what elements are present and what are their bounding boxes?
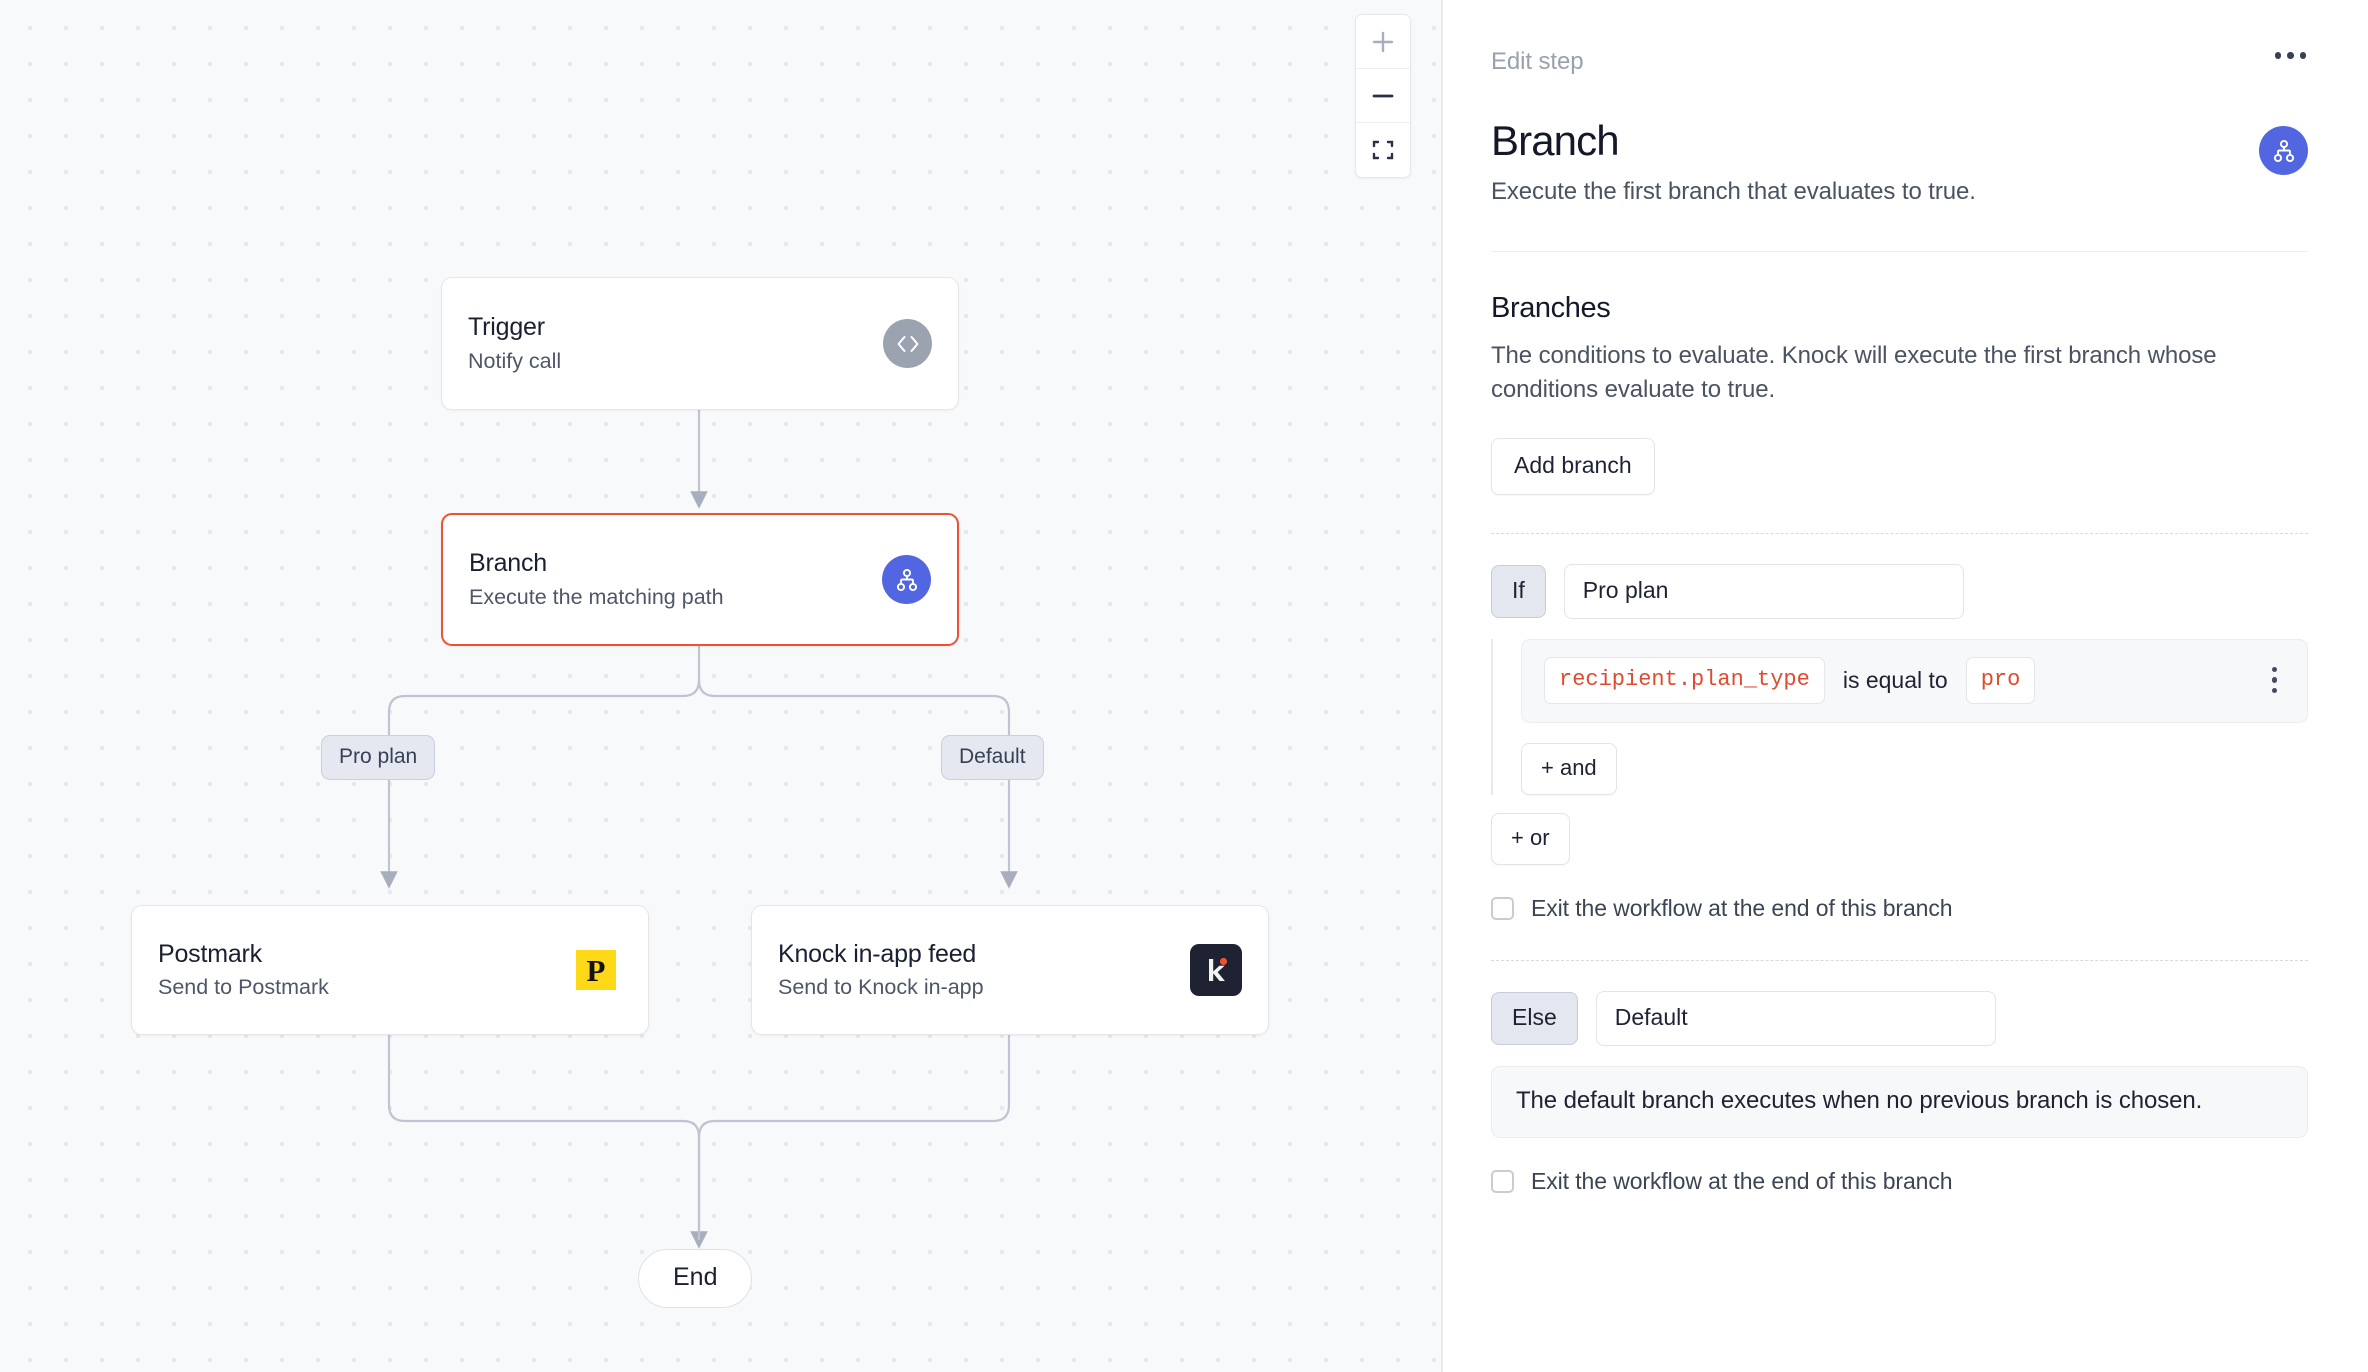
panel-eyebrow: Edit step bbox=[1491, 48, 1584, 76]
node-icon bbox=[883, 319, 932, 368]
workflow-connectors bbox=[0, 0, 1443, 1372]
node-subtitle: Notify call bbox=[468, 348, 865, 375]
node-title: Branch bbox=[469, 548, 864, 579]
node-subtitle: Send to Postmark bbox=[158, 974, 552, 1001]
node-icon bbox=[1190, 944, 1242, 996]
branch-else-note: The default branch executes when no prev… bbox=[1491, 1066, 2308, 1138]
knock-logo-icon bbox=[1190, 944, 1242, 996]
add-branch-button[interactable]: Add branch bbox=[1491, 438, 1655, 495]
zoom-out-button[interactable] bbox=[1356, 69, 1410, 123]
branch-else-exit-row[interactable]: Exit the workflow at the end of this bra… bbox=[1491, 1168, 2308, 1195]
branch-if-body: recipient.plan_type is equal to pro + an… bbox=[1491, 639, 2308, 795]
page-title: Branch bbox=[1491, 118, 1976, 163]
branch-if-exit-checkbox[interactable] bbox=[1491, 897, 1514, 920]
zoom-in-button[interactable] bbox=[1356, 15, 1410, 69]
node-icon bbox=[882, 555, 931, 604]
panel-step-icon bbox=[2259, 118, 2308, 175]
panel-topbar: Edit step bbox=[1491, 48, 2308, 76]
condition-variable[interactable]: recipient.plan_type bbox=[1544, 657, 1825, 704]
divider bbox=[1491, 251, 2308, 252]
condition-options-icon[interactable] bbox=[2264, 663, 2286, 698]
panel-header: Branch Execute the first branch that eva… bbox=[1491, 118, 2308, 206]
branch-if-exit-row[interactable]: Exit the workflow at the end of this bra… bbox=[1491, 895, 2308, 922]
branch-icon bbox=[2259, 126, 2308, 175]
node-branch[interactable]: Branch Execute the matching path bbox=[441, 513, 959, 646]
node-icon: P bbox=[570, 944, 622, 996]
edge-label-pro-plan[interactable]: Pro plan bbox=[321, 735, 435, 780]
node-knock-in-app-feed[interactable]: Knock in-app feed Send to Knock in-app bbox=[751, 905, 1269, 1035]
branch-icon bbox=[882, 555, 931, 604]
node-title: Postmark bbox=[158, 939, 552, 970]
node-subtitle: Execute the matching path bbox=[469, 584, 864, 611]
code-brackets-icon bbox=[883, 319, 932, 368]
branches-section-title: Branches bbox=[1491, 292, 2308, 325]
branch-else-exit-label: Exit the workflow at the end of this bra… bbox=[1531, 1168, 1952, 1195]
branch-if-header: If bbox=[1491, 564, 2308, 619]
condition-operator[interactable]: is equal to bbox=[1843, 667, 1948, 694]
divider-dashed bbox=[1491, 960, 2308, 961]
node-postmark[interactable]: Postmark Send to Postmark P bbox=[131, 905, 649, 1035]
node-title: Knock in-app feed bbox=[778, 939, 1172, 970]
add-and-condition-button[interactable]: + and bbox=[1521, 743, 1617, 795]
branch-else-tag: Else bbox=[1491, 992, 1578, 1045]
workflow-builder: Trigger Notify call Branch Execute the m… bbox=[0, 0, 2368, 1372]
add-or-condition-button[interactable]: + or bbox=[1491, 813, 1570, 865]
node-subtitle: Send to Knock in-app bbox=[778, 974, 1172, 1001]
branch-else: Else The default branch executes when no… bbox=[1491, 991, 2308, 1195]
postmark-stamp-letter: P bbox=[576, 950, 616, 990]
branches-section-description: The conditions to evaluate. Knock will e… bbox=[1491, 339, 2308, 407]
node-end[interactable]: End bbox=[638, 1249, 752, 1308]
fit-view-button[interactable] bbox=[1356, 123, 1410, 177]
branch-else-name-input[interactable] bbox=[1596, 991, 1996, 1046]
postmark-stamp-icon: P bbox=[570, 944, 622, 996]
zoom-controls[interactable] bbox=[1355, 14, 1411, 178]
edge-label-default[interactable]: Default bbox=[941, 735, 1044, 780]
node-title: Trigger bbox=[468, 312, 865, 343]
branch-else-header: Else bbox=[1491, 991, 2308, 1046]
plus-icon bbox=[1370, 29, 1396, 55]
fit-screen-icon bbox=[1370, 137, 1396, 163]
branch-if-name-input[interactable] bbox=[1564, 564, 1964, 619]
workflow-canvas[interactable]: Trigger Notify call Branch Execute the m… bbox=[0, 0, 1443, 1372]
condition-row: recipient.plan_type is equal to pro bbox=[1521, 639, 2308, 723]
branch-if: If recipient.plan_type is equal to pro +… bbox=[1491, 564, 2308, 922]
more-options-icon[interactable] bbox=[2273, 48, 2309, 63]
divider-dashed bbox=[1491, 533, 2308, 534]
page-description: Execute the first branch that evaluates … bbox=[1491, 178, 1976, 206]
edit-step-panel: Edit step Branch Execute the first branc… bbox=[1443, 0, 2368, 1372]
branch-if-exit-label: Exit the workflow at the end of this bra… bbox=[1531, 895, 1952, 922]
branch-else-exit-checkbox[interactable] bbox=[1491, 1170, 1514, 1193]
branch-if-tag: If bbox=[1491, 565, 1546, 618]
minus-icon bbox=[1370, 83, 1396, 109]
condition-value[interactable]: pro bbox=[1966, 657, 2036, 704]
node-trigger[interactable]: Trigger Notify call bbox=[441, 277, 959, 410]
